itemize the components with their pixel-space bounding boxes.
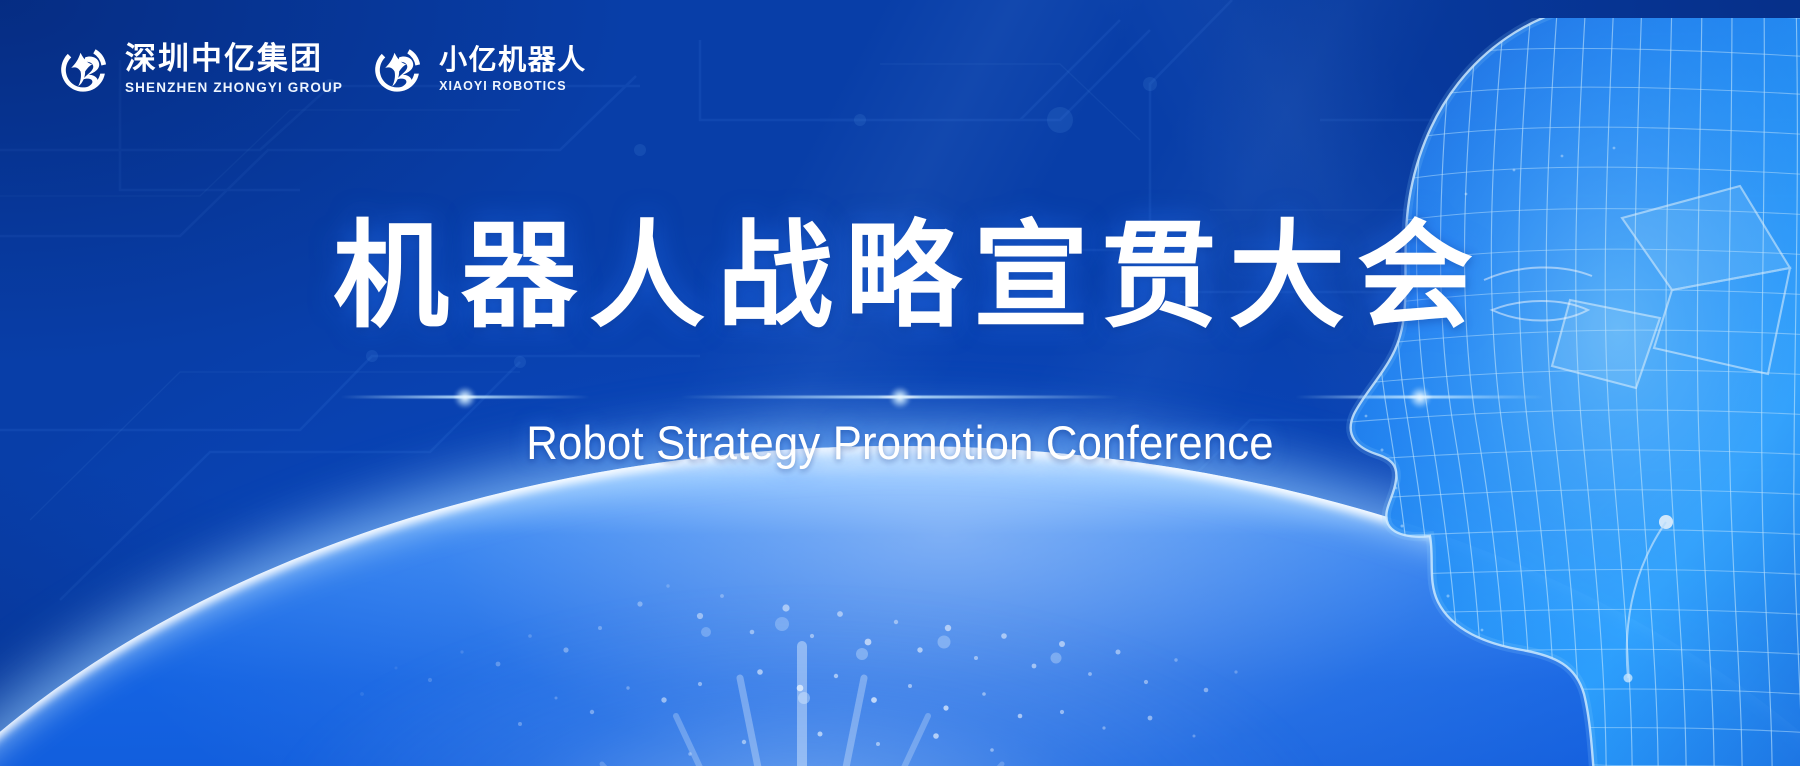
logo-xiaoyi-text: 小亿机器人 XIAOYI ROBOTICS <box>439 46 587 93</box>
sunrise-rays <box>352 586 1252 766</box>
logo-shenzhen-zhongyi-group[interactable]: 深圳中亿集团 SHENZHEN ZHONGYI GROUP <box>55 40 343 98</box>
conference-banner: 深圳中亿集团 SHENZHEN ZHONGYI GROUP 小亿机器人 XIAO… <box>0 0 1800 766</box>
logo-bar: 深圳中亿集团 SHENZHEN ZHONGYI GROUP 小亿机器人 XIAO… <box>55 40 587 98</box>
zhongyi-circle-emblem-icon <box>55 40 113 98</box>
wireframe-human-head-profile <box>1270 18 1800 766</box>
logo-shenzhen-zhongyi-text: 深圳中亿集团 SHENZHEN ZHONGYI GROUP <box>125 44 343 95</box>
logo-name-cn: 深圳中亿集团 <box>125 44 343 75</box>
logo-xiaoyi-robotics[interactable]: 小亿机器人 XIAOYI ROBOTICS <box>369 40 587 98</box>
xiaoyi-circle-emblem-icon <box>369 40 427 98</box>
logo-name-cn: 小亿机器人 <box>439 46 587 74</box>
logo-name-en: XIAOYI ROBOTICS <box>439 80 587 93</box>
logo-name-en: SHENZHEN ZHONGYI GROUP <box>125 81 343 95</box>
